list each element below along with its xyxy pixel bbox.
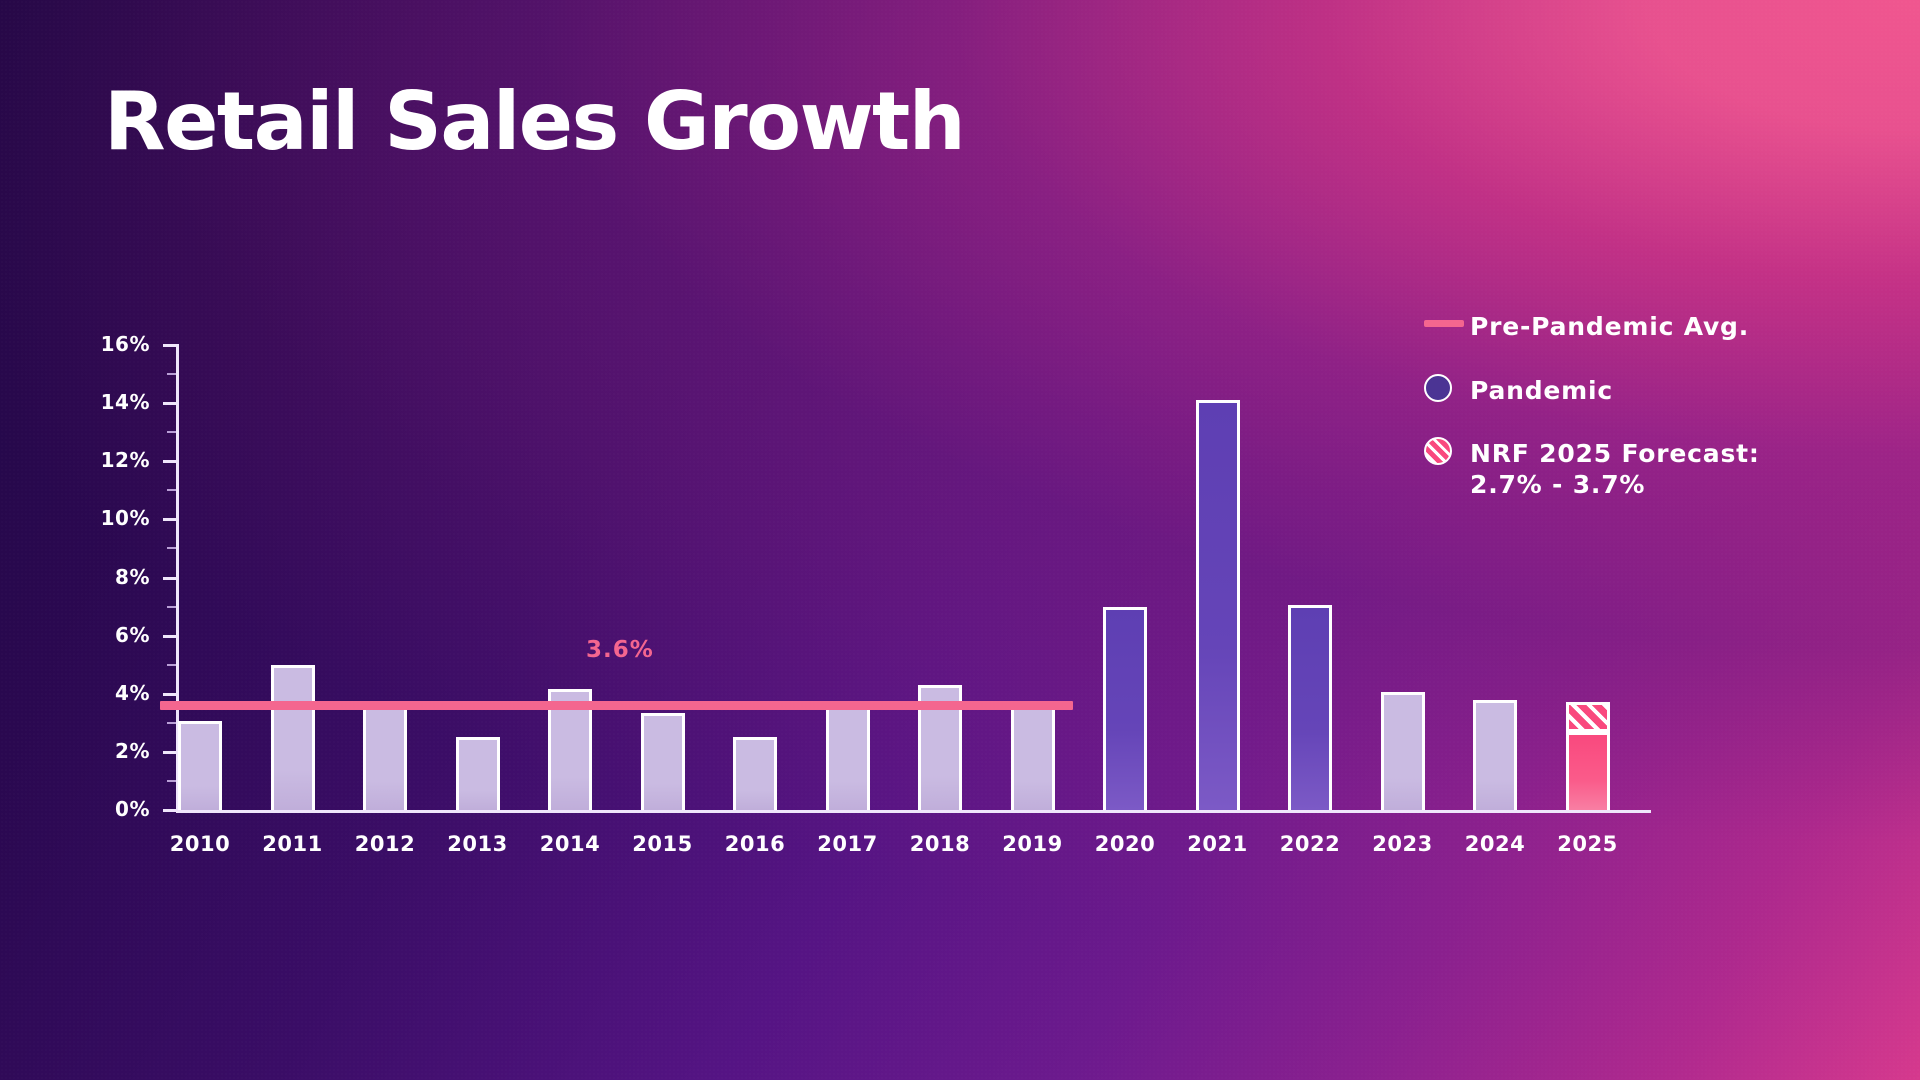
x-axis-tick-label: 2014 [540, 832, 600, 856]
y-axis-minor-tick [167, 664, 176, 666]
y-axis-tick-label: 14% [80, 390, 150, 414]
legend-label-line2: 2.7% - 3.7% [1470, 470, 1760, 501]
y-axis-labels: 16%14%12%10%8%6%4%2%0% [75, 0, 150, 1080]
bar-2013 [456, 737, 500, 810]
y-axis-tick [163, 402, 176, 405]
legend-item-nrf-forecast[interactable]: NRF 2025 Forecast:2.7% - 3.7% [1424, 433, 1864, 500]
bar-2017 [826, 704, 870, 810]
bar-2023 [1381, 692, 1425, 810]
y-axis-tick [163, 344, 176, 347]
y-axis-tick [163, 693, 176, 696]
y-axis-minor-tick [167, 489, 176, 491]
y-axis-tick-label: 0% [80, 797, 150, 821]
y-axis-tick [163, 460, 176, 463]
bar-2024 [1473, 700, 1517, 810]
y-axis-tick [163, 635, 176, 638]
bar-2019 [1011, 704, 1055, 810]
x-axis-tick-label: 2011 [262, 832, 322, 856]
circle-hatched-icon [1424, 437, 1452, 465]
average-value-annotation: 3.6% [586, 637, 654, 663]
y-axis-minor-tick [167, 606, 176, 608]
bar-2021 [1196, 400, 1240, 810]
y-axis-tick-label: 2% [80, 739, 150, 763]
bar-forecast-range [1566, 702, 1610, 731]
x-axis-tick-label: 2016 [725, 832, 785, 856]
x-axis-tick-label: 2021 [1187, 832, 1247, 856]
x-axis-tick-label: 2015 [632, 832, 692, 856]
circle-solid-icon [1424, 374, 1452, 402]
legend-item-label: Pandemic [1470, 370, 1613, 407]
y-axis-tick-label: 4% [80, 681, 150, 705]
bar-2020 [1103, 607, 1147, 810]
y-axis-minor-tick [167, 431, 176, 433]
legend-item-pandemic[interactable]: Pandemic [1424, 370, 1864, 407]
y-axis-tick-label: 12% [80, 448, 150, 472]
x-axis-line [176, 810, 1651, 813]
y-axis-minor-tick [167, 722, 176, 724]
bar-2015 [641, 713, 685, 810]
line-swatch-icon [1424, 320, 1464, 327]
x-axis-tick-label: 2024 [1465, 832, 1525, 856]
bar-chart: 16%14%12%10%8%6%4%2%0% 20102011201220132… [0, 0, 1920, 1080]
legend-label-line1: Pre-Pandemic Avg. [1470, 312, 1749, 343]
chart-legend: Pre-Pandemic Avg.PandemicNRF 2025 Foreca… [1424, 306, 1864, 527]
y-axis-tick-label: 10% [80, 506, 150, 530]
y-axis-minor-tick [167, 373, 176, 375]
bar-2016 [733, 737, 777, 810]
y-axis-tick [163, 809, 176, 812]
legend-item-label: Pre-Pandemic Avg. [1470, 306, 1749, 343]
x-axis-tick-label: 2022 [1280, 832, 1340, 856]
bar-2010 [178, 721, 222, 810]
x-axis-tick-label: 2018 [910, 832, 970, 856]
y-axis-minor-tick [167, 780, 176, 782]
x-axis-tick-label: 2013 [447, 832, 507, 856]
legend-item-pre-pandemic-avg[interactable]: Pre-Pandemic Avg. [1424, 306, 1864, 343]
x-axis-tick-label: 2017 [817, 832, 877, 856]
y-axis-tick-label: 16% [80, 332, 150, 356]
bar-2022 [1288, 605, 1332, 810]
pre-pandemic-average-line [160, 701, 1073, 710]
legend-item-label: NRF 2025 Forecast:2.7% - 3.7% [1470, 433, 1760, 500]
y-axis-tick [163, 577, 176, 580]
x-axis-tick-label: 2023 [1372, 832, 1432, 856]
y-axis-minor-tick [167, 547, 176, 549]
y-axis-tick [163, 518, 176, 521]
x-axis-tick-label: 2019 [1002, 832, 1062, 856]
bar-forecast-base [1566, 732, 1610, 810]
y-axis-tick-label: 6% [80, 623, 150, 647]
bar-2011 [271, 665, 315, 810]
bar-2012 [363, 704, 407, 810]
x-axis-tick-label: 2020 [1095, 832, 1155, 856]
y-axis-tick-label: 8% [80, 565, 150, 589]
x-axis-tick-label: 2012 [355, 832, 415, 856]
legend-label-line1: Pandemic [1470, 376, 1613, 407]
x-axis-tick-label: 2010 [170, 832, 230, 856]
legend-label-line1: NRF 2025 Forecast: [1470, 439, 1760, 470]
y-axis-tick [163, 751, 176, 754]
x-axis-tick-label: 2025 [1557, 832, 1617, 856]
